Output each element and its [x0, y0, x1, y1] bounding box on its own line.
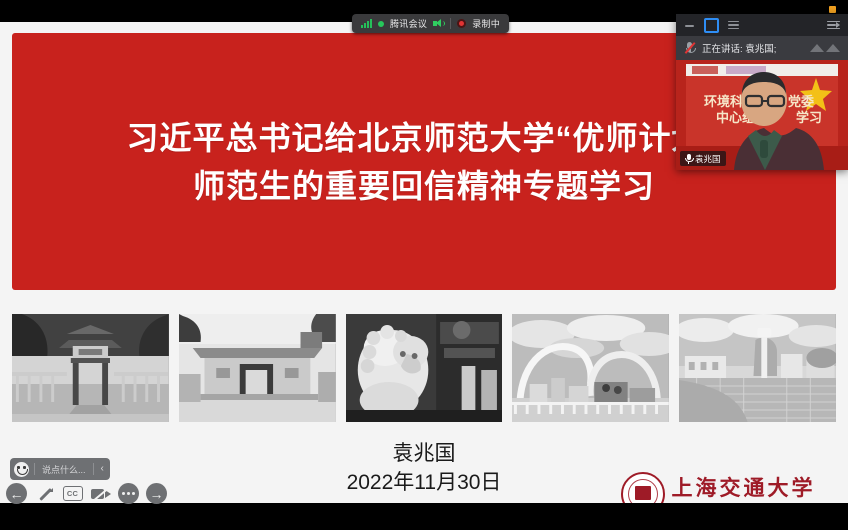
photo-traditional-gate [179, 314, 336, 422]
recording-status-label: 录制中 [472, 17, 500, 30]
more-dots-icon [122, 492, 135, 495]
record-dot-icon[interactable] [457, 19, 466, 28]
divider [93, 463, 94, 475]
slide-title-line-2: 师范生的重要回信精神专题学习 [193, 162, 655, 210]
participant-name-badge: 袁兆国 [680, 151, 726, 166]
svg-text:学习: 学习 [796, 110, 822, 126]
divider [34, 463, 35, 475]
divider [450, 18, 451, 29]
signal-bars-icon [361, 19, 372, 28]
camera-off-button[interactable] [90, 483, 111, 504]
slide-title-line-1: 习近平总书记给北京师范大学“优师计划” [126, 114, 721, 162]
chat-input[interactable]: 说点什么... [40, 463, 88, 476]
back-arrow-button[interactable]: ← [6, 483, 27, 504]
meeting-screen-share-view: 腾讯会议 录制中 习近平总书记给北京师范大学“优师计划” 师范生的重要回信精神专… [0, 0, 848, 530]
photo-historic-archway [12, 314, 169, 422]
video-thumbnail-panel[interactable]: 正在讲话: 袁兆国; 环境科学 中心组 党委 学习 [676, 14, 848, 170]
university-name-cn: 上海交通大学 [672, 477, 831, 499]
svg-text:党委: 党委 [788, 94, 814, 110]
photo-white-arch-sculpture [512, 314, 669, 422]
microphone-icon [685, 154, 692, 163]
meeting-app-name: 腾讯会议 [390, 17, 427, 30]
speaker-icon[interactable] [433, 19, 444, 28]
restore-window-icon[interactable] [704, 18, 719, 33]
collapse-chevron-icon[interactable]: ‹ [99, 464, 106, 474]
layout-switch-icon[interactable] [827, 20, 840, 31]
chat-input-bar[interactable]: 说点什么... ‹ [10, 458, 110, 480]
video-panel-titlebar[interactable] [676, 14, 848, 36]
cc-icon: CC [63, 486, 83, 501]
speaking-label: 正在讲话: 袁兆国; [702, 41, 776, 55]
participant-list-icon[interactable] [728, 20, 739, 31]
pencil-icon [37, 486, 53, 502]
back-arrow-icon: ← [10, 487, 24, 501]
bottom-letterbox [0, 503, 848, 530]
notification-dot-icon [829, 6, 836, 13]
meeting-status-bar[interactable]: 腾讯会议 录制中 [352, 14, 509, 33]
slide-photo-strip [12, 314, 836, 422]
photo-campus-plaza [679, 314, 836, 422]
emoji-icon[interactable] [14, 462, 29, 477]
double-chevron-icon[interactable] [810, 44, 840, 52]
status-online-dot-icon [378, 21, 384, 27]
microphone-muted-icon[interactable] [684, 42, 695, 54]
active-speaker-bar: 正在讲话: 袁兆国; [676, 36, 848, 60]
more-options-button[interactable] [118, 483, 139, 504]
university-logo: 上海交通大学 SHANGHAI JIAO TONG UNIVERSITY [621, 472, 831, 503]
sjtu-seal-icon [621, 472, 665, 503]
photo-stone-lion [346, 314, 503, 422]
forward-arrow-icon: → [150, 487, 164, 501]
participant-video-tile[interactable]: 环境科学 中心组 党委 学习 袁兆国 [676, 60, 848, 170]
annotate-pencil-button[interactable] [34, 483, 55, 504]
participant-name: 袁兆国 [695, 153, 721, 165]
closed-captions-button[interactable]: CC [62, 483, 83, 504]
minimize-icon[interactable] [684, 20, 695, 31]
presenter-name: 袁兆国 [0, 440, 848, 468]
forward-arrow-button[interactable]: → [146, 483, 167, 504]
camera-off-icon [91, 487, 111, 501]
annotation-toolbar[interactable]: ← CC → [6, 483, 167, 504]
